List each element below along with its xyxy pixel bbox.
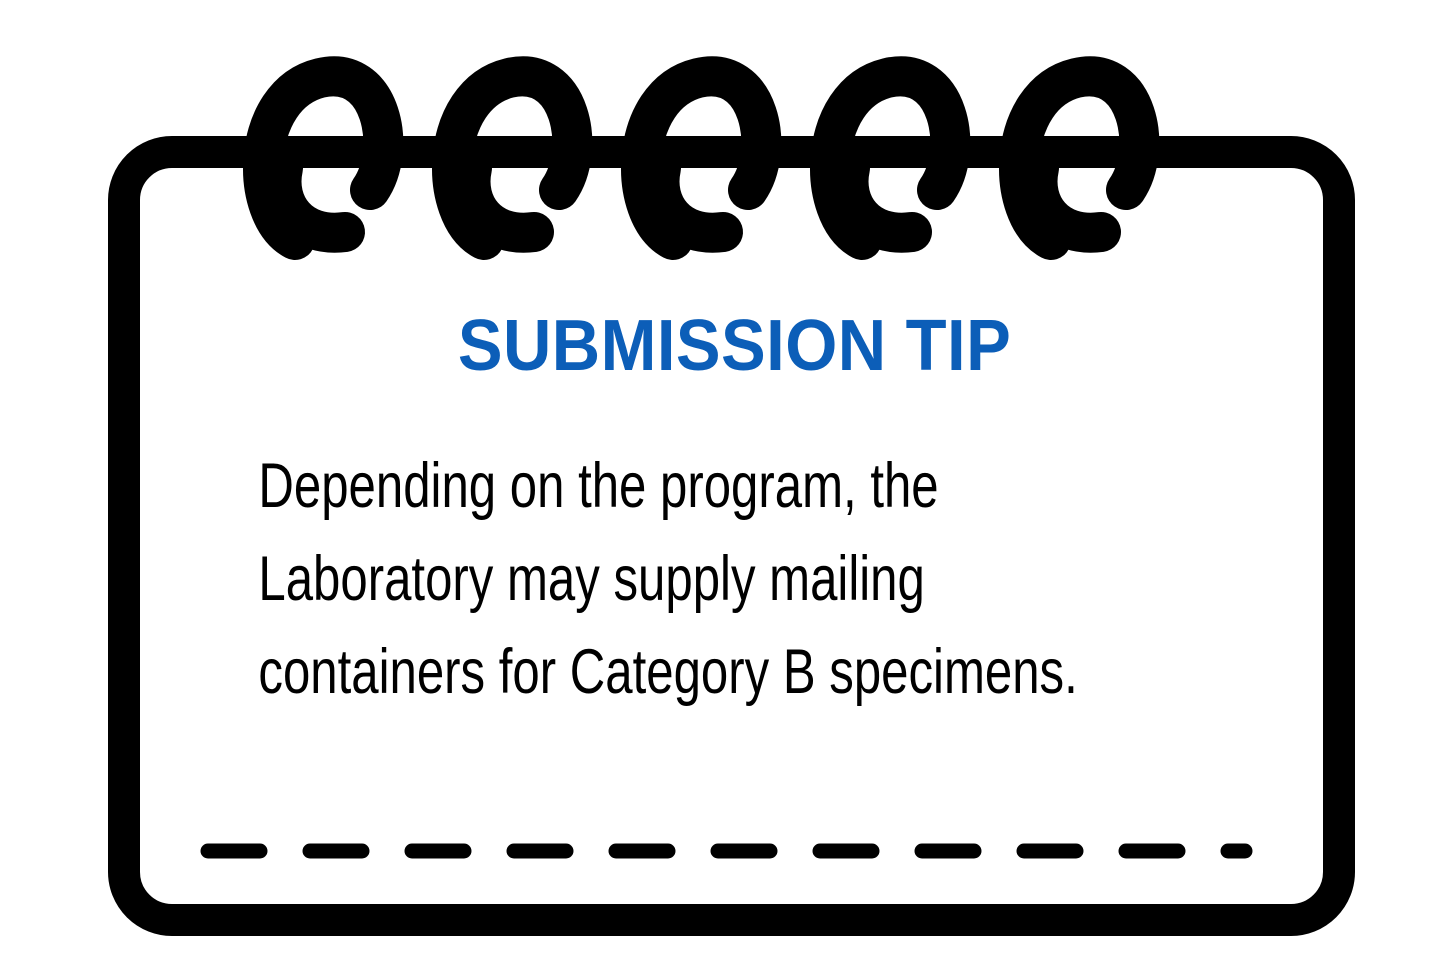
tip-card-canvas: SUBMISSION TIP Depending on the program,… [0, 0, 1438, 979]
spiral-ring-tail-1 [282, 168, 345, 233]
spiral-ring-tail-2 [471, 168, 534, 233]
notebook-illustration [0, 0, 1438, 979]
spiral-ring-tails [282, 168, 1101, 233]
spiral-ring-tail-5 [1038, 168, 1101, 233]
notebook-outline [124, 152, 1339, 920]
spiral-ring-tail-3 [660, 168, 723, 233]
spiral-ring-tail-4 [849, 168, 912, 233]
